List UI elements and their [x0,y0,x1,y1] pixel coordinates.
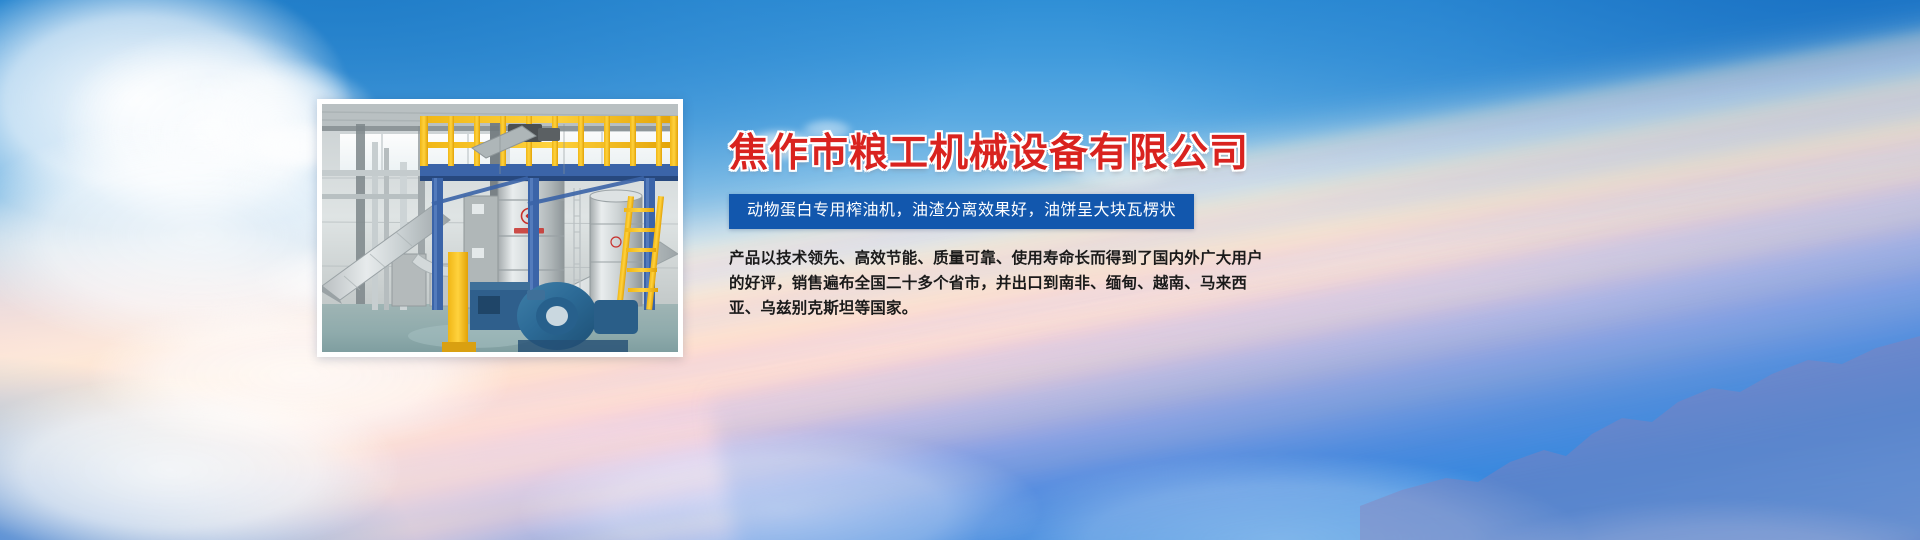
product-subtitle-bar: 动物蛋白专用榨油机，油渣分离效果好，油饼呈大块瓦楞状 [729,194,1194,229]
equipment-photo-card [317,99,683,357]
promo-banner: 焦作市粮工机械设备有限公司 动物蛋白专用榨油机，油渣分离效果好，油饼呈大块瓦楞状… [0,0,1920,540]
equipment-photo [322,104,678,352]
company-description-text: 产品以技术领先、高效节能、质量可靠、使用寿命长而得到了国内外广大用户的好评，销售… [729,246,1274,321]
company-description: 产品以技术领先、高效节能、质量可靠、使用寿命长而得到了国内外广大用户的好评，销售… [729,246,1274,321]
banner-text-block: 焦作市粮工机械设备有限公司 动物蛋白专用榨油机，油渣分离效果好，油饼呈大块瓦楞状… [729,132,1289,321]
company-title: 焦作市粮工机械设备有限公司 [729,132,1289,177]
